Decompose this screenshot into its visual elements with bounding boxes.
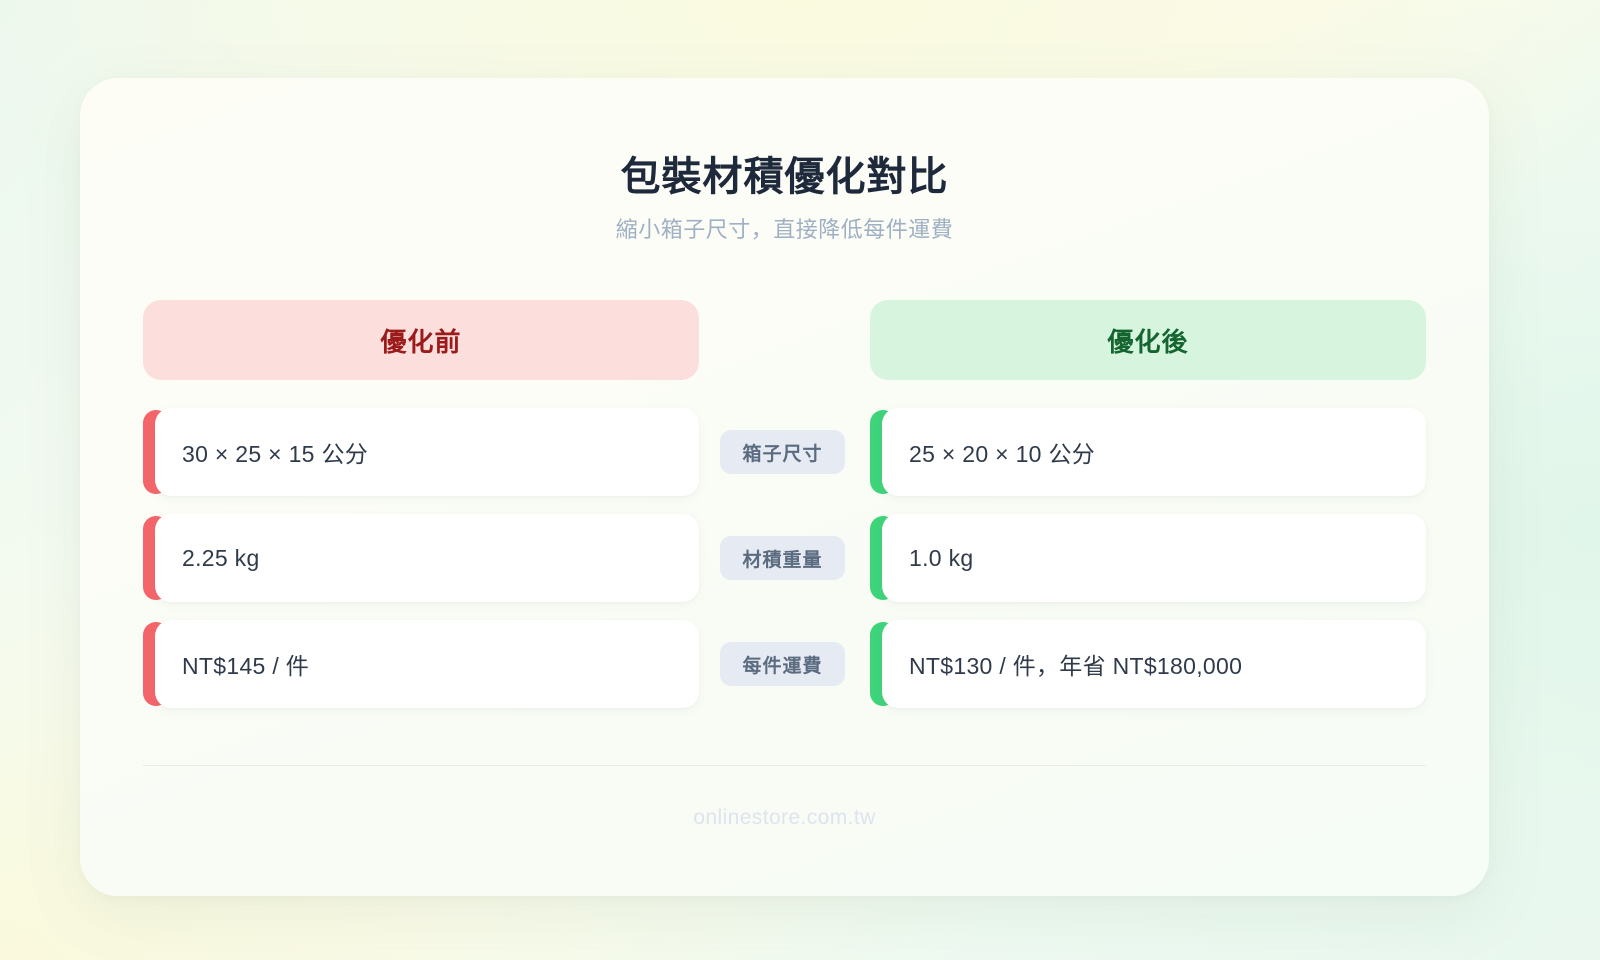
- comparison-row: NT$145 / 件 每件運費 NT$130 / 件，年省 NT$180,000: [80, 620, 1489, 708]
- column-header-after: 優化後: [870, 300, 1426, 380]
- before-value: NT$145 / 件: [155, 620, 699, 708]
- after-value: 1.0 kg: [882, 514, 1426, 602]
- after-value: NT$130 / 件，年省 NT$180,000: [882, 620, 1426, 708]
- before-value: 30 × 25 × 15 公分: [155, 408, 699, 496]
- comparison-row: 30 × 25 × 15 公分 箱子尺寸 25 × 20 × 10 公分: [80, 408, 1489, 496]
- page-background: 包裝材積優化對比 縮小箱子尺寸，直接降低每件運費 優化前 優化後 30 × 25…: [0, 0, 1600, 960]
- before-cell: NT$145 / 件: [143, 620, 699, 708]
- metric-label-shipping-fee: 每件運費: [720, 642, 845, 686]
- metric-label-box-size: 箱子尺寸: [720, 430, 845, 474]
- column-header-before: 優化前: [143, 300, 699, 380]
- comparison-card: 包裝材積優化對比 縮小箱子尺寸，直接降低每件運費 優化前 優化後 30 × 25…: [80, 78, 1489, 896]
- page-subtitle: 縮小箱子尺寸，直接降低每件運費: [80, 212, 1489, 244]
- page-title: 包裝材積優化對比: [80, 144, 1489, 202]
- footer-divider: [143, 765, 1426, 766]
- after-cell: 25 × 20 × 10 公分: [870, 408, 1426, 496]
- before-value: 2.25 kg: [155, 514, 699, 602]
- after-cell: 1.0 kg: [870, 514, 1426, 602]
- metric-label-volumetric-weight: 材積重量: [720, 536, 845, 580]
- before-cell: 30 × 25 × 15 公分: [143, 408, 699, 496]
- before-cell: 2.25 kg: [143, 514, 699, 602]
- footer-site-label: onlinestore.com.tw: [80, 806, 1489, 830]
- after-cell: NT$130 / 件，年省 NT$180,000: [870, 620, 1426, 708]
- comparison-row: 2.25 kg 材積重量 1.0 kg: [80, 514, 1489, 602]
- after-value: 25 × 20 × 10 公分: [882, 408, 1426, 496]
